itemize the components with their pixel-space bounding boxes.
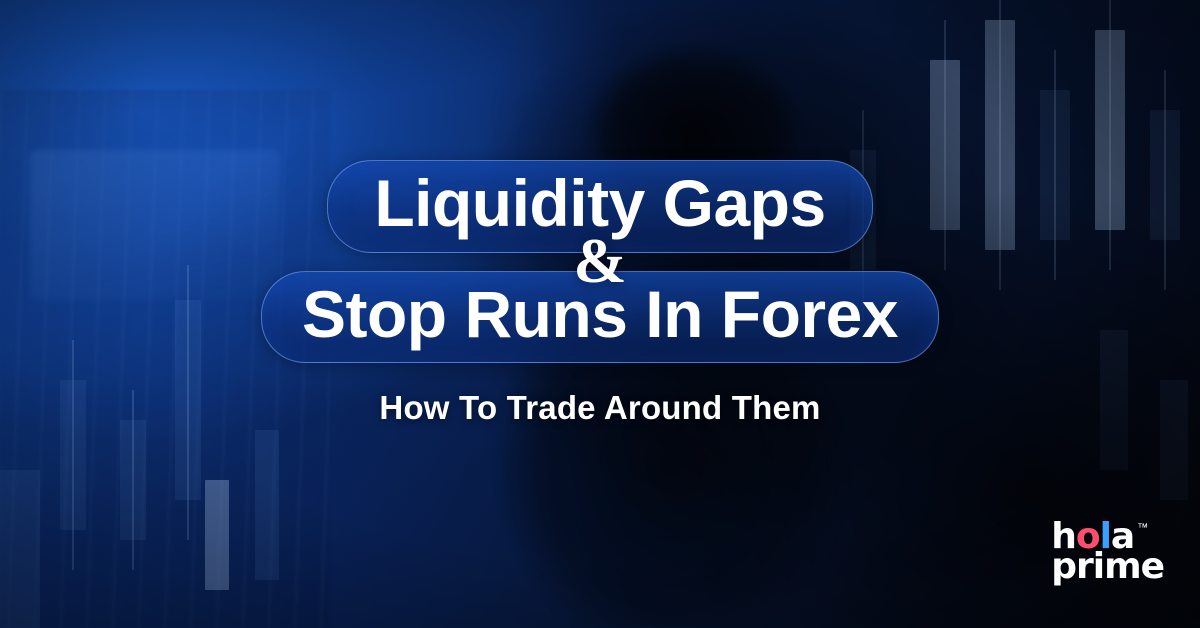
banner-content: Liquidity Gaps & Stop Runs In Forex How … [0, 0, 1200, 628]
logo-trademark: ™ [1137, 523, 1148, 533]
banner-canvas: Liquidity Gaps & Stop Runs In Forex How … [0, 0, 1200, 628]
logo-wordmark-prime: prime [1051, 550, 1164, 584]
holaprime-logo: hola ™ prime [1051, 520, 1164, 584]
banner-subtitle: How To Trade Around Them [379, 389, 820, 427]
title-connector: & [573, 229, 626, 293]
